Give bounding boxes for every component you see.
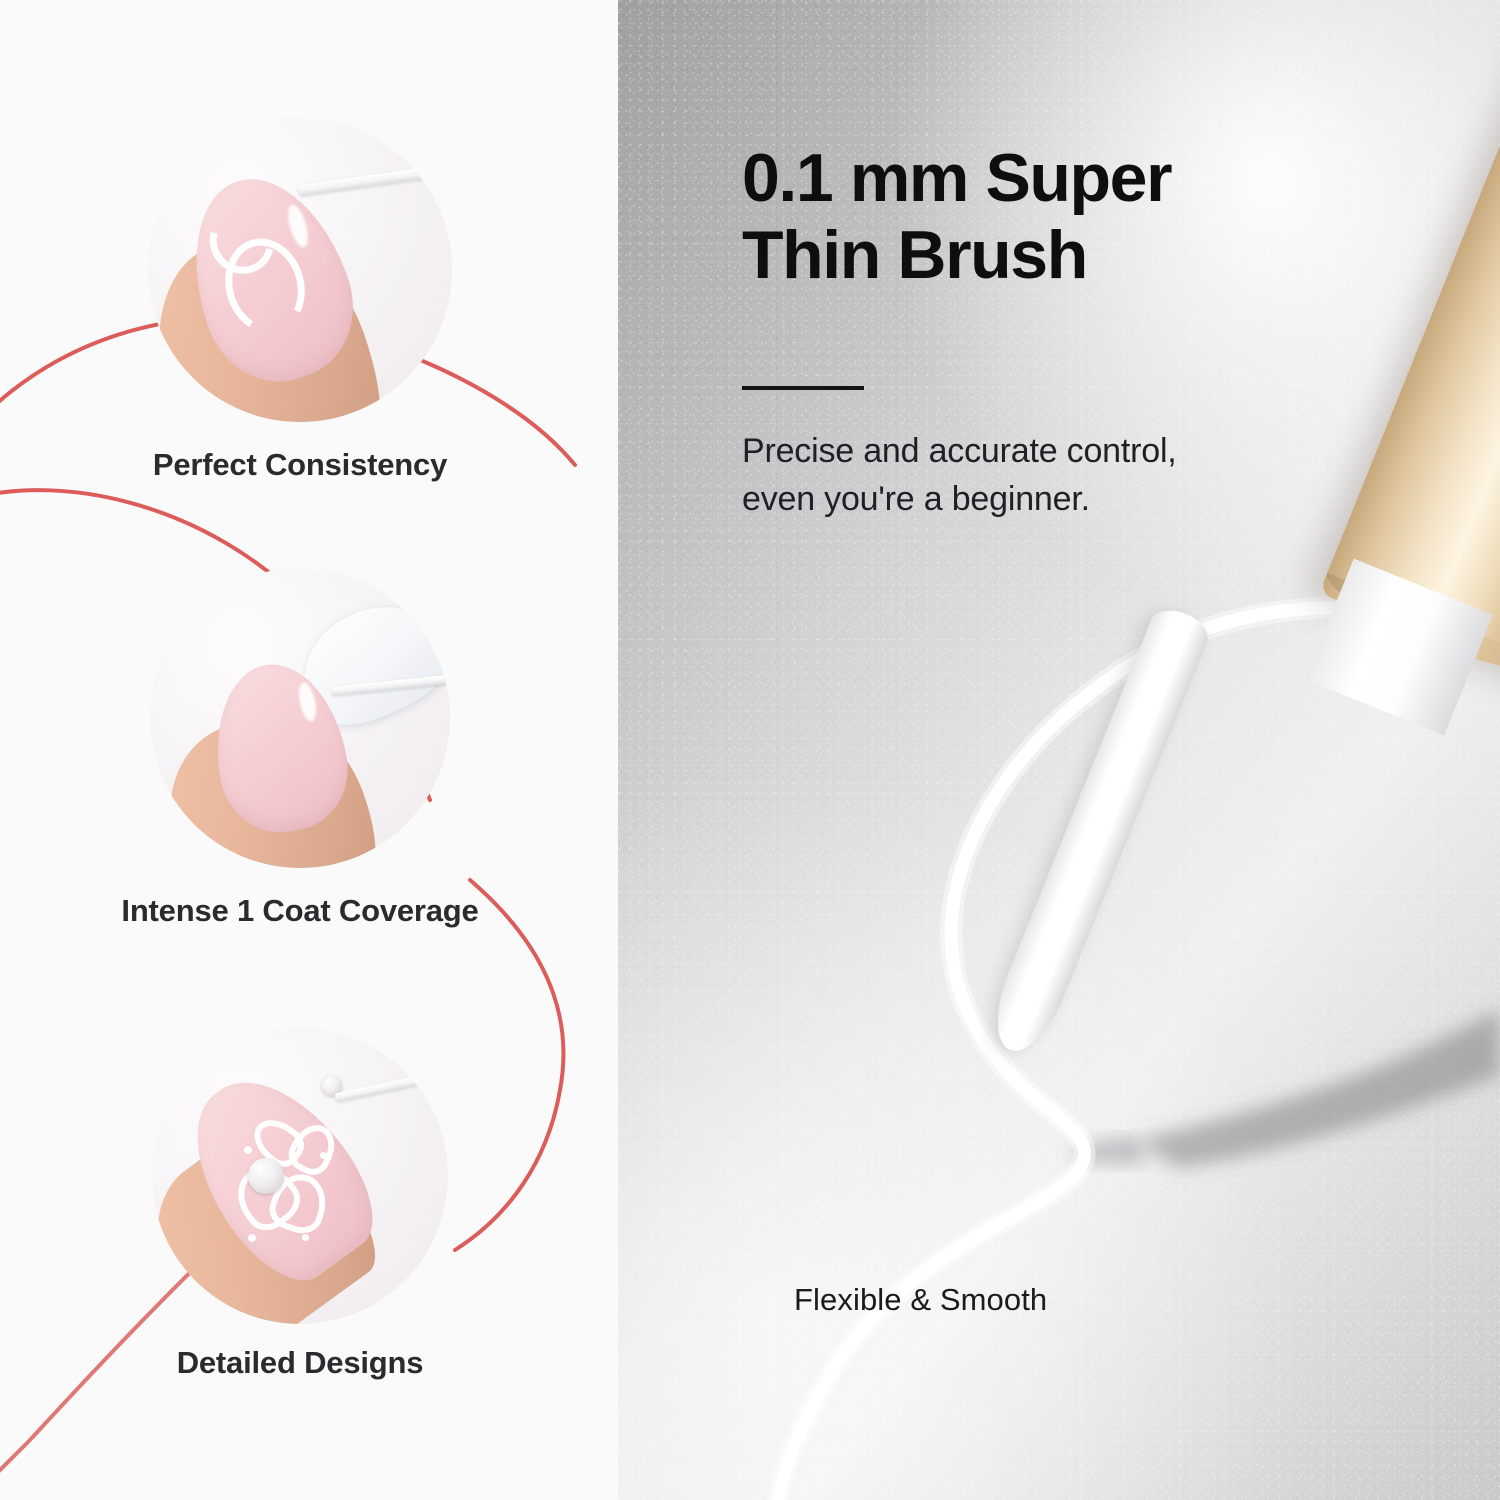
flexible-smooth-label: Flexible & Smooth [794,1282,1047,1318]
page-subtitle: Precise and accurate control, even you'r… [742,428,1342,523]
nail-single-coat-photo [150,568,450,868]
nail-butterfly-art-photo [152,1028,448,1324]
nail-swirl-art-photo [148,118,452,422]
right-hero-panel: 0.1 mm Super Thin Brush Precise and accu… [618,0,1500,1500]
title-rule-divider [742,386,864,390]
feature-item-intense-coverage: Intense 1 Coat Coverage [80,568,520,932]
feature-caption: Detailed Designs [80,1342,520,1384]
page-title: 0.1 mm Super Thin Brush [742,140,1382,294]
feature-item-detailed-designs: Detailed Designs [80,1028,520,1384]
product-feature-infographic: Perfect Consistency Intense 1 Coat Cover… [0,0,1500,1500]
left-features-panel: Perfect Consistency Intense 1 Coat Cover… [0,0,618,1500]
feature-item-perfect-consistency: Perfect Consistency [80,118,520,486]
feature-caption: Intense 1 Coat Coverage [80,890,520,932]
feature-caption: Perfect Consistency [80,444,520,486]
